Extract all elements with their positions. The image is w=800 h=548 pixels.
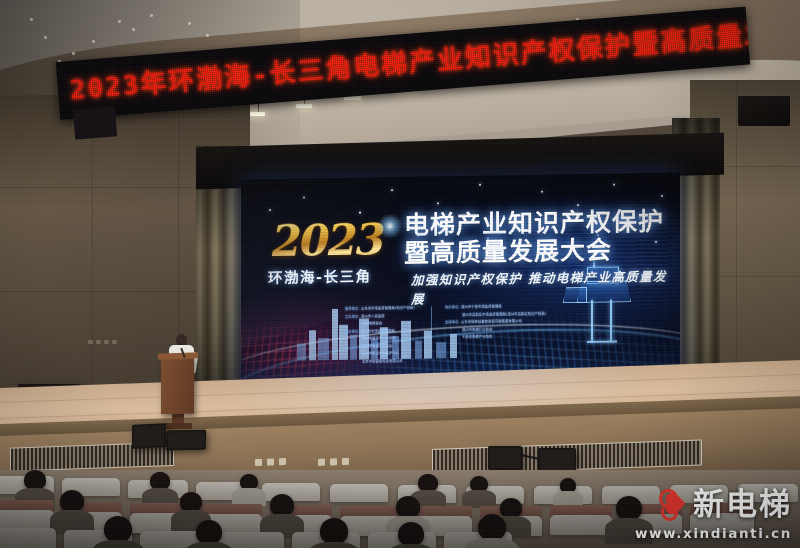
stage-monitor-3 [488,446,522,470]
star-dot [437,202,439,204]
sponsor-value: 滨州市市场监督管理局 [361,329,395,334]
region-subtitle: 环渤海-长三角 [268,265,372,288]
ticker-mount-box [73,106,117,139]
sponsor-value: 滨州市高新区市场监督管理局(滨州市高新区知识产权局) [462,311,546,316]
ceiling-speck [92,40,95,43]
star-dot [661,195,663,197]
ceiling-downlight [250,112,265,116]
stage-monitor-1 [132,423,166,449]
sponsor-value: 山东省市场监督管理局(知识产权局) [361,306,415,311]
ceiling-speck [30,18,33,21]
year-logo: 2023 [272,215,390,265]
ceiling-speck [118,20,121,23]
star-dot [391,189,393,191]
brand-name-cn: 新电梯 [693,490,792,521]
sponsor-value: 中国电梯协会 [362,321,382,325]
event-title-line2: 暨高质量发展大会 [404,236,664,268]
event-title: 电梯产业知识产权保护 暨高质量发展大会 [404,208,664,268]
ceiling-speck [132,28,135,31]
star-dot [577,204,579,206]
ceiling-speck [72,52,75,55]
sponsor-value: 北京中欧智能科技有限公司 [362,359,403,364]
sponsor-label: 指导单位: [345,307,361,311]
sponsor-row: 指导单位: 山东省市场监督管理局(知识产权局) [345,305,415,314]
star-dot [479,184,481,186]
star-dot [613,184,615,186]
brand-logo-icon [658,487,689,523]
sponsor-value: 滨州市人民政府 [361,314,385,318]
star-dot [359,212,361,214]
event-slogan: 加强知识产权保护 推动电梯产业高质量发展 [411,266,680,308]
sponsor-value: 滨州市宁县市场监督管理局 [461,304,502,309]
ceiling-speck [150,14,153,17]
event-title-line1: 电梯产业知识产权保护 [404,207,664,240]
sponsor-value: 滨州市知识产权保护中心 [362,351,399,356]
logo-sparkle [377,213,403,239]
sponsor-value: 滨州市电梯行业协会 [362,344,393,348]
sponsor-value: 滨州市电梯行业协会 [462,327,493,331]
sponsors-divider [431,306,432,332]
ceiling-downlight [296,104,312,108]
ceiling-speck [206,34,209,37]
sponsors-right-column: 协办单位: 滨州市宁县市场监督管理局 滨州市高新区市场监督管理局(滨州市高新区知… [445,303,546,342]
podium-base [164,423,192,429]
conference-hall-photo: 2023年环渤海-长三角电梯产业知识产权保护暨高质量发展大会 [0,0,800,548]
sponsor-label: 主办单位: [345,314,361,318]
ceiling-speck [188,22,191,25]
sponsor-row: 千泰省电梯产业协会 [445,333,546,342]
speaker-podium [161,356,194,415]
watermark: 新电梯 www.xindianti.cn [635,487,792,542]
star-dot [541,191,543,193]
wall-loudspeaker-right [738,96,790,126]
sponsor-value: 千泰省电梯产业协会 [462,335,493,339]
stage-monitor-2 [166,430,207,451]
sponsor-value: 山东省特种设备检验研究院集团有限公司 [461,319,522,324]
brand-url: www.xindianti.cn [635,526,792,542]
sponsors-left-column: 指导单位: 山东省市场监督管理局(知识产权局)主办单位: 滨州市人民政府 中国电… [345,305,415,366]
sponsor-label: 支持单位: [445,320,461,324]
sponsor-label: 承办单位: [345,329,361,333]
sponsor-row: 北京中欧智能科技有限公司 [345,357,415,366]
sponsor-label: 协办单位: [445,305,461,309]
ceiling-speck [44,36,47,39]
star-dot [269,209,271,211]
star-dot [303,196,305,198]
sponsor-value: 滨州市邹平市人民政府 [362,336,396,341]
